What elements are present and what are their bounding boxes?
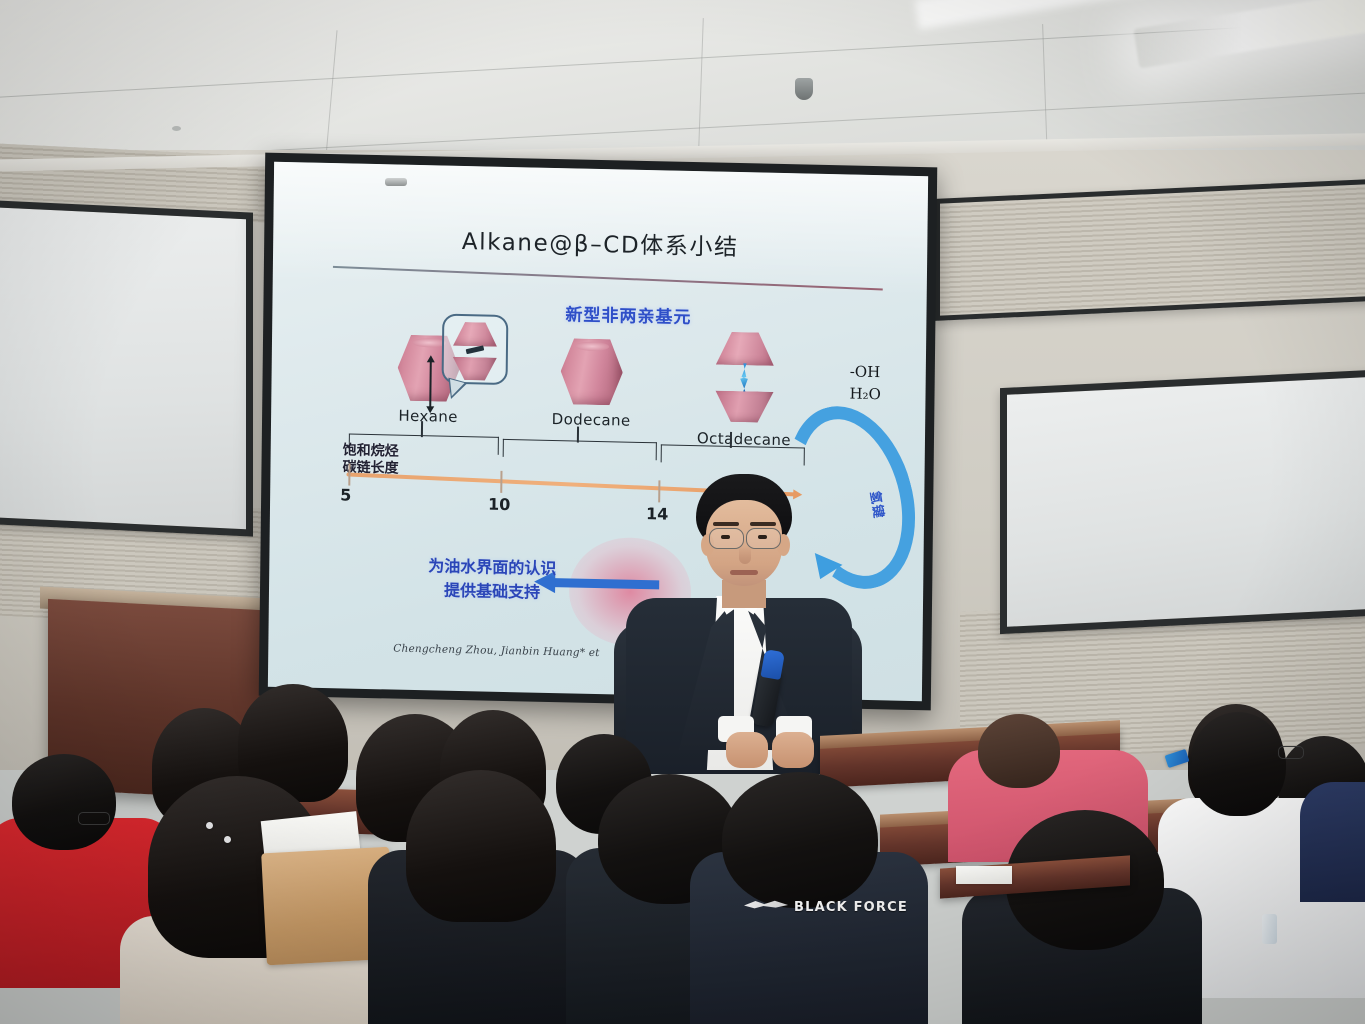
- oh-h2o-annotation: -OH H₂O: [849, 361, 881, 406]
- phone-icon: [1165, 749, 1190, 768]
- molecule-dodecane: Dodecane: [526, 337, 657, 430]
- ceiling-light: [1133, 0, 1365, 69]
- cone-up-icon: [716, 332, 774, 366]
- h2o-label: H₂O: [849, 383, 881, 406]
- axis-caption: 饱和烷烃 碳链长度: [342, 441, 398, 476]
- jacket-logo-text: BLACK FORCE: [794, 900, 908, 915]
- cone-down-icon: [715, 391, 773, 423]
- axis-tick-10: 10: [488, 495, 510, 514]
- sprinkler-icon: [172, 126, 181, 131]
- conclusion-text: 为油水界面的认识 提供基础支持: [397, 555, 588, 607]
- title-divider: [333, 266, 883, 291]
- speaker-brow-left: [713, 522, 739, 526]
- microphone-head-icon: [760, 649, 785, 680]
- ceiling-speaker-icon: [795, 78, 813, 100]
- audience-member: [722, 772, 878, 908]
- screen-mount-icon: [385, 178, 407, 186]
- whiteboard-right: [1000, 368, 1365, 634]
- cone-down-icon: [453, 357, 497, 381]
- audience-member: [1300, 782, 1365, 902]
- slide-title: Alkane@β–CD体系小结: [273, 218, 927, 266]
- audience: BLACK FORCE: [0, 690, 1365, 1024]
- hairclip-icon: [206, 822, 213, 829]
- callout-bubble: [442, 314, 509, 385]
- oh-label: -OH: [850, 361, 882, 384]
- audience-member: [978, 714, 1060, 788]
- water-bottle: [1262, 914, 1277, 944]
- axis-tick-5: 5: [340, 485, 351, 504]
- paper-sheet: [956, 866, 1012, 884]
- speaker-mouth: [730, 570, 758, 575]
- hairclip-icon: [224, 836, 231, 843]
- slide-subtitle-blue: 新型非两亲基元: [565, 300, 691, 328]
- eyeglasses-icon: [1278, 746, 1304, 759]
- slide-citation: Chengcheng Zhou, Jianbin Huang* et: [393, 643, 599, 660]
- molecule-octadecane: Octadecane: [679, 331, 810, 450]
- eyeglasses-icon: [78, 812, 110, 825]
- audience-member: [12, 754, 116, 850]
- wall-panel-right-upper: [935, 177, 1365, 321]
- speaker-eye-left: [721, 535, 730, 539]
- audience-member: [1190, 712, 1286, 816]
- speaker-eye-right: [758, 535, 767, 539]
- twisted-chain-icon: [736, 363, 752, 393]
- molecule-label: Dodecane: [526, 409, 656, 430]
- lecture-hall-photo: Alkane@β–CD体系小结 新型非两亲基元 Hexane: [0, 0, 1365, 1024]
- speaker-nose: [739, 546, 751, 564]
- alkane-bar-icon: [466, 345, 485, 354]
- cone-up-icon: [453, 322, 497, 347]
- eyeglasses-icon: [746, 528, 781, 549]
- speaker-brow-right: [750, 522, 776, 526]
- audience-member: [406, 770, 556, 922]
- whiteboard-left: [0, 199, 253, 536]
- cyclodextrin-barrel-icon: [560, 338, 623, 405]
